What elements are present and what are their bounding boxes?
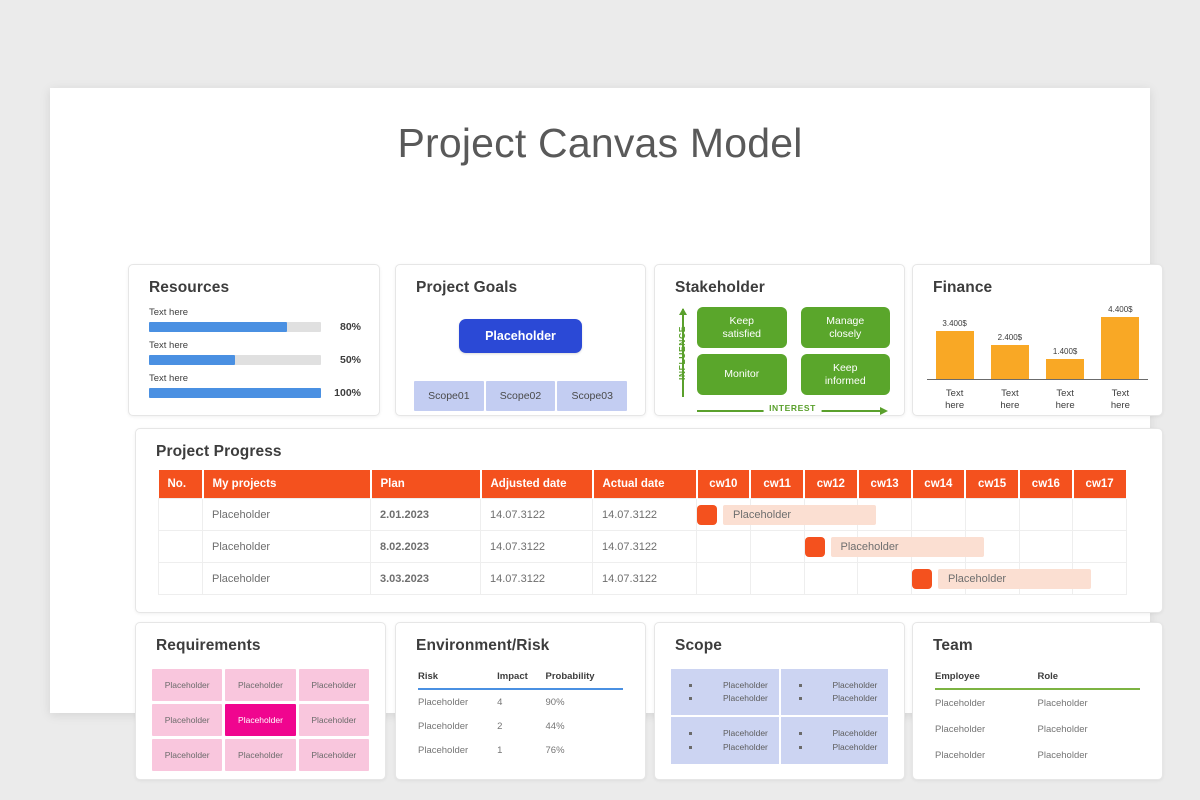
finance-bar[interactable] [991,345,1029,379]
cell-probability: 90% [546,689,624,714]
requirement-cell[interactable]: Placeholder [152,704,222,736]
card-stakeholder: Stakeholder INFLUENCE KeepsatisfiedManag… [654,264,905,416]
risk-body: Placeholder490%Placeholder244%Placeholde… [418,689,623,762]
column-header[interactable]: No. [159,470,203,499]
risk-column-header[interactable]: Impact [497,671,545,689]
requirements-title: Requirements [136,623,385,655]
page-title: Project Canvas Model [50,88,1150,167]
cell-role: Placeholder [1038,716,1141,742]
gantt-bar-label: Placeholder [723,505,876,525]
interest-axis-label: INTEREST [763,403,822,413]
finance-bar-column: 4.400$ [1093,305,1148,379]
cell-no [159,531,203,563]
finance-category-label: Texthere [1038,388,1093,411]
cell-week [965,499,1019,531]
table-body: Placeholder2.01.202314.07.312214.07.3122… [159,499,1127,595]
list-item: Placeholder [799,741,889,754]
gantt-bar[interactable]: Placeholder [697,505,876,525]
slide-canvas: Project Canvas Model Resources Text here… [50,88,1150,713]
week-column-header[interactable]: cw10 [697,470,751,499]
project-progress-title: Project Progress [136,429,1162,461]
resources-title: Resources [129,265,379,297]
requirement-cell[interactable]: Placeholder [152,739,222,771]
team-column-header[interactable]: Role [1038,671,1141,689]
card-team: Team EmployeeRole PlaceholderPlaceholder… [912,622,1163,780]
cell-actual-date: 14.07.3122 [593,531,697,563]
team-title: Team [913,623,1162,655]
resource-progress-fill [149,388,321,398]
finance-category-label: Texthere [982,388,1037,411]
cell-week [1019,531,1073,563]
cell-week [1073,531,1127,563]
week-column-header[interactable]: cw14 [912,470,966,499]
finance-bar[interactable] [1101,317,1139,379]
interest-axis: INTEREST [697,403,888,417]
cell-week [1019,499,1073,531]
risk-row: Placeholder490% [418,689,623,714]
requirement-cell[interactable]: Placeholder [152,669,222,701]
cell-actual-date: 14.07.3122 [593,499,697,531]
table-row[interactable]: Placeholder2.01.202314.07.312214.07.3122… [159,499,1127,531]
resource-item: Text here100% [149,373,361,399]
resource-percent: 50% [329,354,361,366]
cell-week [750,531,804,563]
requirement-cell[interactable]: Placeholder [225,669,295,701]
resource-progress-track[interactable] [149,355,321,365]
cell-week [697,531,751,563]
requirement-cell[interactable]: Placeholder [225,739,295,771]
finance-title: Finance [913,265,1162,297]
column-header[interactable]: My projects [203,470,371,499]
finance-bar-value: 3.400$ [942,319,966,328]
influence-axis-label: INFLUENCE [677,326,687,380]
scope-pill[interactable]: Scope01 [414,381,484,411]
finance-bar-value: 1.400$ [1053,347,1077,356]
cell-week [750,563,804,595]
scope-quadrant[interactable]: PlaceholderPlaceholder [781,669,889,715]
requirement-cell[interactable]: Placeholder [299,739,369,771]
cell-role: Placeholder [1038,689,1141,716]
cell-risk: Placeholder [418,714,497,738]
stakeholder-matrix: INFLUENCE KeepsatisfiedManagecloselyMoni… [669,305,890,417]
cell-week [912,499,966,531]
team-row: PlaceholderPlaceholder [935,716,1140,742]
project-goals-title: Project Goals [396,265,645,297]
cell-week [804,563,858,595]
cell-project: Placeholder [203,563,371,595]
resource-percent: 100% [329,387,361,399]
cell-plan: 3.03.2023 [371,563,481,595]
placeholder-button[interactable]: Placeholder [459,319,582,353]
team-header-row: EmployeeRole [935,671,1140,689]
cell-employee: Placeholder [935,689,1038,716]
finance-bar-value: 4.400$ [1108,305,1132,314]
week-column-header[interactable]: cw15 [965,470,1019,499]
cell-adjusted-date: 14.07.3122 [481,563,593,595]
stakeholder-quadrant[interactable]: Monitor [697,354,787,395]
gantt-milestone-marker[interactable] [805,537,825,557]
gantt-bar-label: Placeholder [938,569,1091,589]
resource-bar-line: 50% [149,354,361,366]
card-project-progress: Project Progress No.My projectsPlanAdjus… [135,428,1163,613]
stakeholder-quadrant[interactable]: Keepinformed [801,354,891,395]
week-column-header[interactable]: cw11 [750,470,804,499]
finance-bar-column: 3.400$ [927,319,982,379]
scope-list: PlaceholderPlaceholder [671,727,779,753]
list-item: Placeholder [799,727,889,740]
cell-employee: Placeholder [935,716,1038,742]
finance-bar-column: 1.400$ [1038,347,1093,379]
cell-project: Placeholder [203,499,371,531]
cell-week: Placeholder [804,531,858,563]
column-header[interactable]: Plan [371,470,481,499]
team-table: EmployeeRole PlaceholderPlaceholderPlace… [935,671,1140,768]
column-header[interactable]: Adjusted date [481,470,593,499]
cell-adjusted-date: 14.07.3122 [481,531,593,563]
resource-item: Text here50% [149,340,361,366]
finance-bar-value: 2.400$ [998,333,1022,342]
column-header[interactable]: Actual date [593,470,697,499]
table-header-row: No.My projectsPlanAdjusted dateActual da… [159,470,1127,499]
finance-bar-chart: 3.400$2.400$1.400$4.400$ TexthereTexther… [927,303,1148,397]
scope-pill[interactable]: Scope02 [486,381,556,411]
finance-axis-line [927,379,1148,381]
stakeholder-quadrant[interactable]: Manageclosely [801,307,891,348]
cell-impact: 1 [497,738,545,762]
cell-probability: 76% [546,738,624,762]
card-environment-risk: Environment/Risk RiskImpactProbability P… [395,622,646,780]
cell-week [697,563,751,595]
cell-plan: 2.01.2023 [371,499,481,531]
finance-bar[interactable] [1046,359,1084,379]
cell-no [159,499,203,531]
requirements-grid: PlaceholderPlaceholderPlaceholderPlaceho… [152,669,369,771]
environment-risk-title: Environment/Risk [396,623,645,655]
finance-bars: 3.400$2.400$1.400$4.400$ [927,303,1148,379]
finance-category-label: Texthere [1093,388,1148,411]
gantt-milestone-marker[interactable] [912,569,932,589]
table-row[interactable]: Placeholder3.03.202314.07.312214.07.3122… [159,563,1127,595]
scope-list: PlaceholderPlaceholder [671,679,779,705]
risk-table: RiskImpactProbability Placeholder490%Pla… [418,671,623,762]
team-row: PlaceholderPlaceholder [935,742,1140,768]
cell-week: Placeholder [697,499,751,531]
resource-label: Text here [149,340,361,351]
list-item: Placeholder [799,692,889,705]
requirement-cell[interactable]: Placeholder [299,669,369,701]
team-row: PlaceholderPlaceholder [935,689,1140,716]
cell-week [1073,499,1127,531]
team-column-header[interactable]: Employee [935,671,1038,689]
card-resources: Resources Text here80%Text here50%Text h… [128,264,380,416]
scope-pill-row: Scope01Scope02Scope03 [414,381,627,411]
scope-quadrant[interactable]: PlaceholderPlaceholder [781,717,889,763]
table-row[interactable]: Placeholder8.02.202314.07.312214.07.3122… [159,531,1127,563]
cell-actual-date: 14.07.3122 [593,563,697,595]
cell-adjusted-date: 14.07.3122 [481,499,593,531]
cell-week [858,563,912,595]
list-item: Placeholder [689,741,779,754]
week-column-header[interactable]: cw16 [1019,470,1073,499]
goal-button-wrap: Placeholder [396,319,645,353]
cell-project: Placeholder [203,531,371,563]
week-column-header[interactable]: cw12 [804,470,858,499]
cell-probability: 44% [546,714,624,738]
cell-risk: Placeholder [418,738,497,762]
risk-column-header[interactable]: Probability [546,671,624,689]
resource-label: Text here [149,307,361,318]
requirement-cell[interactable]: Placeholder [299,704,369,736]
finance-bar[interactable] [936,331,974,379]
stakeholder-quadrant[interactable]: Keepsatisfied [697,307,787,348]
scope-list: PlaceholderPlaceholder [781,727,889,753]
scope-title: Scope [655,623,904,655]
scope-pill[interactable]: Scope03 [557,381,627,411]
cell-impact: 2 [497,714,545,738]
gantt-bar[interactable]: Placeholder [805,537,984,557]
stakeholder-title: Stakeholder [655,265,904,297]
card-requirements: Requirements PlaceholderPlaceholderPlace… [135,622,386,780]
cell-week: Placeholder [912,563,966,595]
cell-plan: 8.02.2023 [371,531,481,563]
gantt-milestone-marker[interactable] [697,505,717,525]
finance-category-label: Texthere [927,388,982,411]
resource-progress-track[interactable] [149,322,321,332]
cell-risk: Placeholder [418,689,497,714]
stakeholder-quadrants: KeepsatisfiedManagecloselyMonitorKeepinf… [697,307,890,395]
gantt-bar[interactable]: Placeholder [912,569,1091,589]
card-finance: Finance 3.400$2.400$1.400$4.400$ Texther… [912,264,1163,416]
resource-percent: 80% [329,321,361,333]
resource-progress-fill [149,355,235,365]
resource-progress-fill [149,322,287,332]
cell-role: Placeholder [1038,742,1141,768]
resource-progress-track[interactable] [149,388,321,398]
card-project-goals: Project Goals Placeholder Scope01Scope02… [395,264,646,416]
risk-column-header[interactable]: Risk [418,671,497,689]
scope-quadrant[interactable]: PlaceholderPlaceholder [671,717,779,763]
project-progress-table: No.My projectsPlanAdjusted dateActual da… [158,470,1128,595]
risk-row: Placeholder176% [418,738,623,762]
list-item: Placeholder [689,679,779,692]
cell-impact: 4 [497,689,545,714]
team-body: PlaceholderPlaceholderPlaceholderPlaceho… [935,689,1140,768]
scope-quadrant[interactable]: PlaceholderPlaceholder [671,669,779,715]
card-scope: Scope PlaceholderPlaceholderPlaceholderP… [654,622,905,780]
week-column-header[interactable]: cw13 [858,470,912,499]
resource-bar-line: 100% [149,387,361,399]
week-column-header[interactable]: cw17 [1073,470,1127,499]
finance-category-labels: TexthereTexthereTexthereTexthere [927,388,1148,411]
resources-list: Text here80%Text here50%Text here100% [129,297,379,399]
list-item: Placeholder [799,679,889,692]
cell-no [159,563,203,595]
scope-grid: PlaceholderPlaceholderPlaceholderPlaceho… [671,669,888,764]
gantt-bar-label: Placeholder [831,537,984,557]
requirement-cell-active[interactable]: Placeholder [225,704,295,736]
risk-header-row: RiskImpactProbability [418,671,623,689]
list-item: Placeholder [689,727,779,740]
cell-employee: Placeholder [935,742,1038,768]
resource-label: Text here [149,373,361,384]
risk-row: Placeholder244% [418,714,623,738]
resource-item: Text here80% [149,307,361,333]
finance-bar-column: 2.400$ [982,333,1037,379]
list-item: Placeholder [689,692,779,705]
resource-bar-line: 80% [149,321,361,333]
influence-axis: INFLUENCE [671,309,693,397]
scope-list: PlaceholderPlaceholder [781,679,889,705]
